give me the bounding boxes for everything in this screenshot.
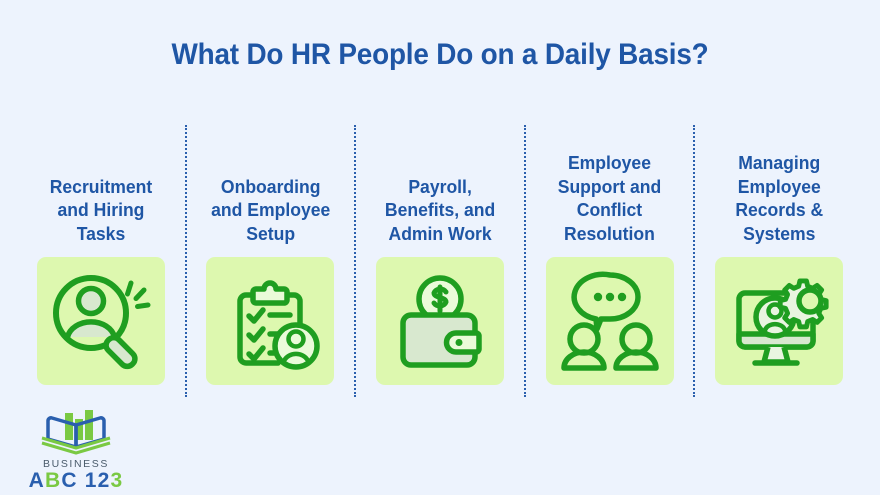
page-title: What Do HR People Do on a Daily Basis?	[31, 38, 849, 72]
two-people-speech-bubble-icon	[556, 267, 664, 375]
columns-container: Recruitment and Hiring Tasks	[18, 125, 862, 397]
heading-line: Managing	[735, 151, 823, 174]
column-divider	[354, 125, 356, 397]
heading-line: Benefits, and	[385, 198, 495, 221]
heading-line: Admin Work	[385, 222, 495, 245]
column-records-systems: Managing Employee Records & Systems	[696, 125, 862, 397]
monitor-person-gear-icon	[725, 267, 833, 375]
logo-char-2: 2	[98, 469, 111, 492]
brand-logo[interactable]: BUSINESS ABC 123	[22, 409, 130, 487]
heading-line: Recruitment	[50, 175, 153, 198]
logo-abc123-text: ABC 123	[22, 470, 130, 492]
person-magnifier-icon	[47, 267, 155, 375]
open-book-bar-chart-logo-icon	[22, 409, 130, 457]
heading-line: Systems	[735, 222, 823, 245]
heading-line: Tasks	[50, 222, 153, 245]
icon-tile-3	[376, 257, 504, 385]
logo-char-b: B	[45, 469, 61, 492]
logo-char-c: C	[61, 469, 77, 492]
icon-tile-1	[37, 257, 165, 385]
icon-tile-2	[206, 257, 334, 385]
clipboard-checklist-person-icon	[216, 267, 324, 375]
icon-tile-5	[715, 257, 843, 385]
column-employee-support: Employee Support and Conflict Resolution	[527, 125, 693, 397]
column-divider	[693, 125, 695, 397]
column-heading-1: Recruitment and Hiring Tasks	[47, 125, 155, 249]
heading-line: Resolution	[558, 222, 661, 245]
heading-line: Records &	[735, 198, 823, 221]
heading-line: and Employee	[211, 198, 330, 221]
heading-line: Employee	[735, 175, 823, 198]
column-onboarding: Onboarding and Employee Setup	[188, 125, 354, 397]
column-divider	[524, 125, 526, 397]
heading-line: Support and	[558, 175, 661, 198]
column-recruitment: Recruitment and Hiring Tasks	[18, 125, 184, 397]
logo-char-space	[78, 469, 85, 492]
heading-line: Conflict	[558, 198, 661, 221]
heading-line: Payroll,	[385, 175, 495, 198]
logo-char-1: 1	[85, 469, 98, 492]
column-heading-5: Managing Employee Records & Systems	[733, 125, 826, 249]
heading-line: Employee	[558, 151, 661, 174]
column-heading-3: Payroll, Benefits, and Admin Work	[382, 125, 498, 249]
heading-line: Onboarding	[211, 175, 330, 198]
column-heading-4: Employee Support and Conflict Resolution	[555, 125, 664, 249]
heading-line: Setup	[211, 222, 330, 245]
column-divider	[185, 125, 187, 397]
column-payroll: Payroll, Benefits, and Admin Work	[357, 125, 523, 397]
icon-tile-4	[546, 257, 674, 385]
infographic-canvas: What Do HR People Do on a Daily Basis? R…	[0, 0, 880, 495]
wallet-dollar-coin-icon	[386, 267, 494, 375]
column-heading-2: Onboarding and Employee Setup	[208, 125, 333, 249]
heading-line: and Hiring	[50, 198, 153, 221]
logo-char-3: 3	[111, 469, 124, 492]
logo-char-a: A	[29, 469, 45, 492]
